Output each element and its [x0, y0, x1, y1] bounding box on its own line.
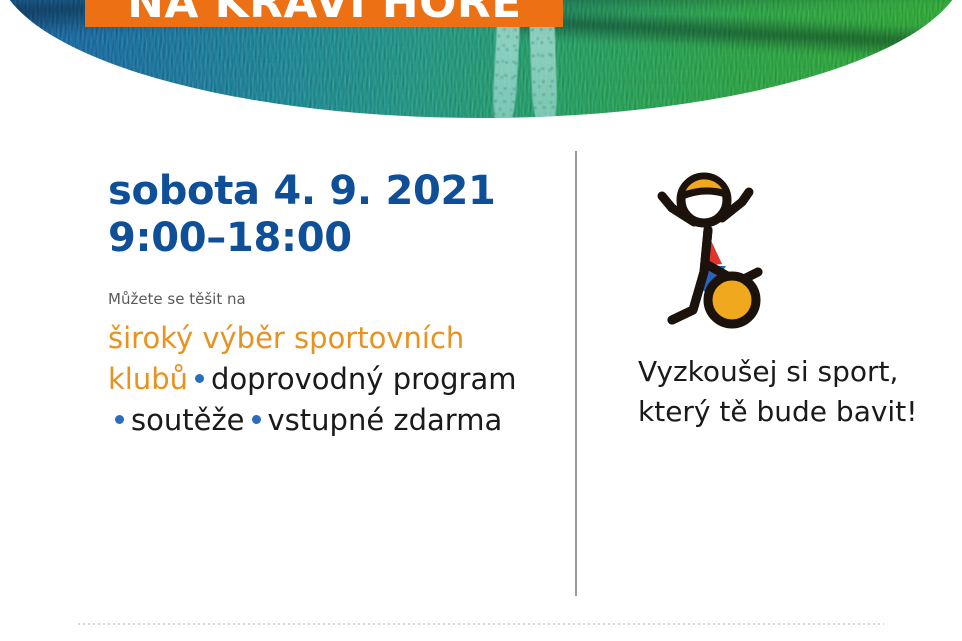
offer-item: doprovodný program — [211, 362, 516, 396]
bullet-dot-icon — [252, 415, 261, 424]
event-details-column: sobota 4. 9. 2021 9:00–18:00 Můžete se t… — [108, 168, 538, 441]
offer-item: vstupné zdarma — [268, 403, 503, 437]
banner-title: NA KRAVÍ HOŘE — [127, 0, 522, 25]
slogan-text: Vyzkoušej si sport, který tě bude bavit! — [638, 352, 928, 432]
bullet-dot-icon — [115, 415, 124, 424]
column-divider — [575, 151, 577, 596]
bullet-dot-icon — [195, 374, 204, 383]
offer-list: široký výběr sportovních klubůdoprovodný… — [108, 318, 538, 442]
bottom-dotted-divider — [78, 623, 884, 625]
offer-eyebrow: Můžete se těšit na — [108, 290, 538, 310]
figure-ball — [708, 276, 756, 324]
offer-item: soutěže — [131, 403, 245, 437]
slogan-column: Vyzkoušej si sport, který tě bude bavit! — [638, 160, 928, 432]
event-time: 9:00–18:00 — [108, 215, 538, 262]
title-banner: NA KRAVÍ HOŘE — [85, 0, 563, 27]
stick-figure-with-ball-icon — [646, 160, 766, 330]
event-date: sobota 4. 9. 2021 — [108, 168, 538, 215]
main-content: sobota 4. 9. 2021 9:00–18:00 Můžete se t… — [0, 120, 962, 641]
